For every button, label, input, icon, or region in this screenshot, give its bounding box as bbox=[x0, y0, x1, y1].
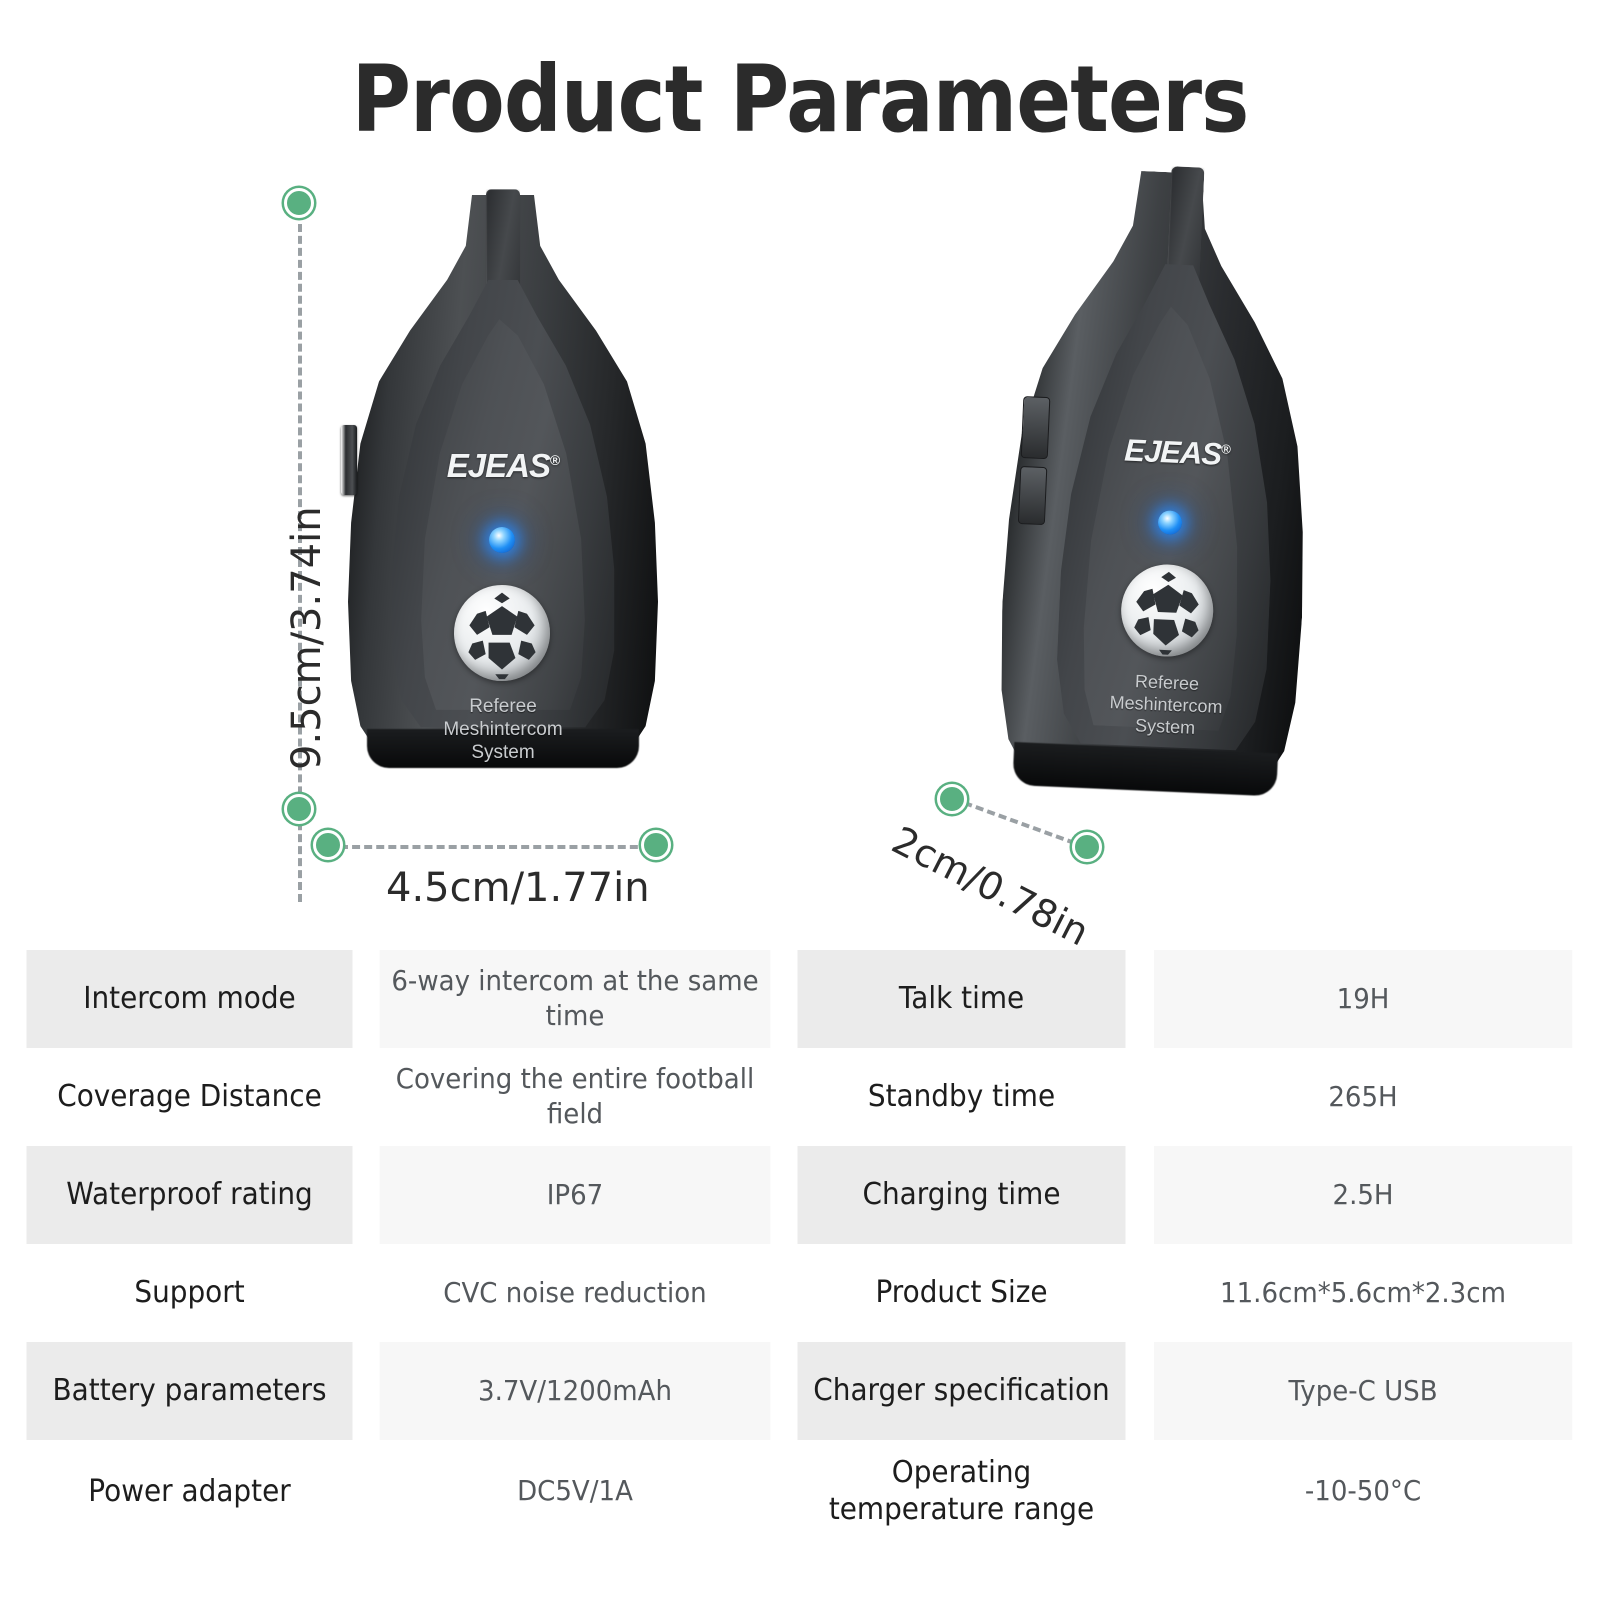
table-row: Waterproof rating IP67 Charging time 2.5… bbox=[14, 1146, 1588, 1244]
spec-label: Waterproof rating bbox=[26, 1146, 352, 1244]
sublabel-line-1: Referee bbox=[348, 695, 658, 718]
spec-label: Charging time bbox=[797, 1146, 1125, 1244]
side-button bbox=[1018, 466, 1048, 525]
device-front-view: EJEAS® Ref bbox=[348, 195, 658, 760]
spec-label: Intercom mode bbox=[26, 950, 352, 1048]
brand-logo-text: EJEAS bbox=[447, 447, 550, 484]
table-row: Support CVC noise reduction Product Size… bbox=[14, 1244, 1588, 1342]
trademark-symbol: ® bbox=[1221, 441, 1230, 456]
height-marker-bottom bbox=[284, 794, 314, 824]
brand-logo: EJEAS® bbox=[348, 447, 658, 485]
table-row: Coverage Distance Covering the entire fo… bbox=[14, 1048, 1588, 1146]
spec-value: Covering the entire football field bbox=[380, 1048, 771, 1146]
soccer-ball-icon bbox=[454, 585, 550, 681]
trademark-symbol: ® bbox=[550, 452, 559, 468]
table-row: Power adapter DC5V/1A Operating temperat… bbox=[14, 1440, 1588, 1542]
page-title: Product Parameters bbox=[96, 46, 1504, 153]
width-dimension-label: 4.5cm/1.77in bbox=[386, 865, 650, 911]
spec-label: Power adapter bbox=[26, 1440, 352, 1542]
spec-value: Type-C USB bbox=[1154, 1342, 1573, 1440]
spec-value: -10-50°C bbox=[1154, 1440, 1573, 1542]
spec-value: 11.6cm*5.6cm*2.3cm bbox=[1154, 1244, 1573, 1342]
depth-marker-near bbox=[937, 784, 967, 814]
product-parameters-page: Product Parameters EJEAS® bbox=[0, 0, 1600, 1600]
spec-value: IP67 bbox=[380, 1146, 771, 1244]
spec-value: 19H bbox=[1154, 950, 1573, 1048]
table-row: Intercom mode 6-way intercom at the same… bbox=[14, 950, 1588, 1048]
spec-value: CVC noise reduction bbox=[380, 1244, 771, 1342]
spec-label: Battery parameters bbox=[26, 1342, 352, 1440]
spec-label: Charger specification bbox=[797, 1342, 1125, 1440]
spec-label: Coverage Distance bbox=[26, 1048, 352, 1146]
blue-status-led-icon bbox=[489, 527, 515, 553]
spec-value: 2.5H bbox=[1154, 1146, 1573, 1244]
spec-label: Talk time bbox=[797, 950, 1125, 1048]
width-marker-left bbox=[313, 830, 343, 860]
spec-label: Operating temperature range bbox=[797, 1440, 1125, 1542]
depth-dimension-line bbox=[964, 801, 1088, 849]
table-row: Battery parameters 3.7V/1200mAh Charger … bbox=[14, 1342, 1588, 1440]
soccer-ball-icon bbox=[1119, 563, 1215, 659]
spec-value: 6-way intercom at the same time bbox=[380, 950, 771, 1048]
spec-value: DC5V/1A bbox=[380, 1440, 771, 1542]
sublabel-line-3: System bbox=[348, 741, 658, 764]
spec-label: Product Size bbox=[797, 1244, 1125, 1342]
specifications-table: Intercom mode 6-way intercom at the same… bbox=[14, 950, 1588, 1542]
specifications-table-body: Intercom mode 6-way intercom at the same… bbox=[14, 950, 1588, 1542]
height-dimension-label: 9.5cm/3.74in bbox=[284, 506, 330, 770]
device-sublabel: Referee Meshintercom System bbox=[1015, 666, 1318, 745]
width-dimension-line bbox=[340, 845, 662, 849]
spec-value: 3.7V/1200mAh bbox=[380, 1342, 771, 1440]
spec-label: Support bbox=[26, 1244, 352, 1342]
device-angled-view: EJEAS® Ref bbox=[995, 166, 1321, 789]
spec-label: Standby time bbox=[797, 1048, 1125, 1146]
depth-marker-far bbox=[1072, 832, 1102, 862]
sublabel-line-2: Meshintercom bbox=[348, 718, 658, 741]
spec-value: 265H bbox=[1154, 1048, 1573, 1146]
product-showcase: EJEAS® Ref bbox=[0, 150, 1600, 940]
brand-logo-text: EJEAS bbox=[1124, 433, 1222, 472]
height-marker-top bbox=[284, 188, 314, 218]
width-marker-right bbox=[641, 830, 671, 860]
device-sublabel: Referee Meshintercom System bbox=[348, 695, 658, 765]
